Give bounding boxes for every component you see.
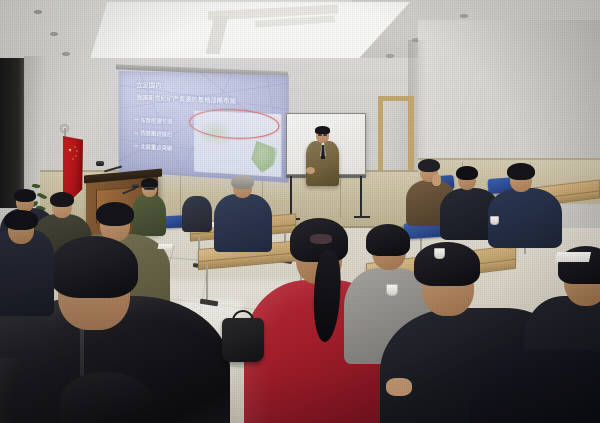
wainscot-seam bbox=[180, 174, 181, 218]
plant-leaf bbox=[37, 192, 48, 201]
screen-inner-shadow bbox=[119, 71, 289, 183]
paper-cup[interactable] bbox=[386, 284, 398, 296]
speaker-glasses-icon bbox=[323, 134, 327, 136]
attendee-hair bbox=[96, 202, 134, 226]
shoulder-bag[interactable] bbox=[222, 318, 264, 362]
whiteboard-leg bbox=[360, 176, 362, 218]
attendee-hair bbox=[507, 163, 535, 180]
attendee-hair bbox=[14, 189, 36, 202]
attendee-torso bbox=[0, 230, 54, 316]
speaker-glasses-icon bbox=[318, 134, 322, 136]
attendee-torso bbox=[470, 350, 600, 423]
attendee-hair bbox=[418, 159, 440, 172]
attendee-hair bbox=[50, 236, 138, 298]
attendee-torso bbox=[488, 188, 562, 248]
attendee-torso bbox=[132, 194, 166, 236]
speaker-hair bbox=[315, 126, 330, 134]
attendee-hair bbox=[456, 166, 478, 180]
microphone-icon bbox=[132, 184, 139, 188]
papers-on-desk bbox=[157, 244, 172, 249]
chinese-flag bbox=[63, 136, 83, 198]
downlight-icon bbox=[50, 32, 58, 36]
downlight-icon bbox=[62, 52, 70, 56]
hair-tie bbox=[310, 234, 332, 244]
projected-slide: 立足国内: 我国新世纪矿产资源的基地战略布局 东部挖潜节流 西部跟进接后 北部重… bbox=[119, 71, 289, 183]
attendee-hair bbox=[50, 192, 74, 207]
papers-on-desk bbox=[555, 252, 591, 262]
attendee-hand bbox=[386, 378, 412, 396]
attendee-hair bbox=[4, 210, 38, 230]
paper-cup[interactable] bbox=[434, 248, 445, 259]
microphone-icon bbox=[96, 161, 104, 166]
wainscot-seam bbox=[340, 174, 341, 218]
photograph-seminar-room: A seminar room with a projected slide on… bbox=[0, 0, 600, 423]
projection-screen: 立足国内: 我国新世纪矿产资源的基地战略布局 东部挖潜节流 西部跟进接后 北部重… bbox=[119, 71, 289, 183]
desk-leg bbox=[206, 264, 208, 302]
speaker-hand bbox=[306, 167, 315, 174]
glasses-icon bbox=[144, 187, 155, 190]
attendee-torso bbox=[182, 196, 212, 232]
attendee-hand bbox=[432, 174, 441, 186]
downlight-icon bbox=[34, 10, 42, 14]
attendee-hair bbox=[60, 372, 152, 423]
plant-leaf bbox=[32, 183, 41, 189]
downlight-icon bbox=[460, 14, 468, 18]
whiteboard-foot bbox=[354, 216, 370, 218]
attendee-torso bbox=[214, 194, 272, 252]
attendee-hair-gray bbox=[231, 175, 254, 189]
paper-cup[interactable] bbox=[490, 216, 499, 225]
attendee-hair bbox=[414, 242, 480, 286]
attendee-hair bbox=[366, 224, 410, 256]
left-wall-curtain-recess bbox=[0, 58, 26, 208]
